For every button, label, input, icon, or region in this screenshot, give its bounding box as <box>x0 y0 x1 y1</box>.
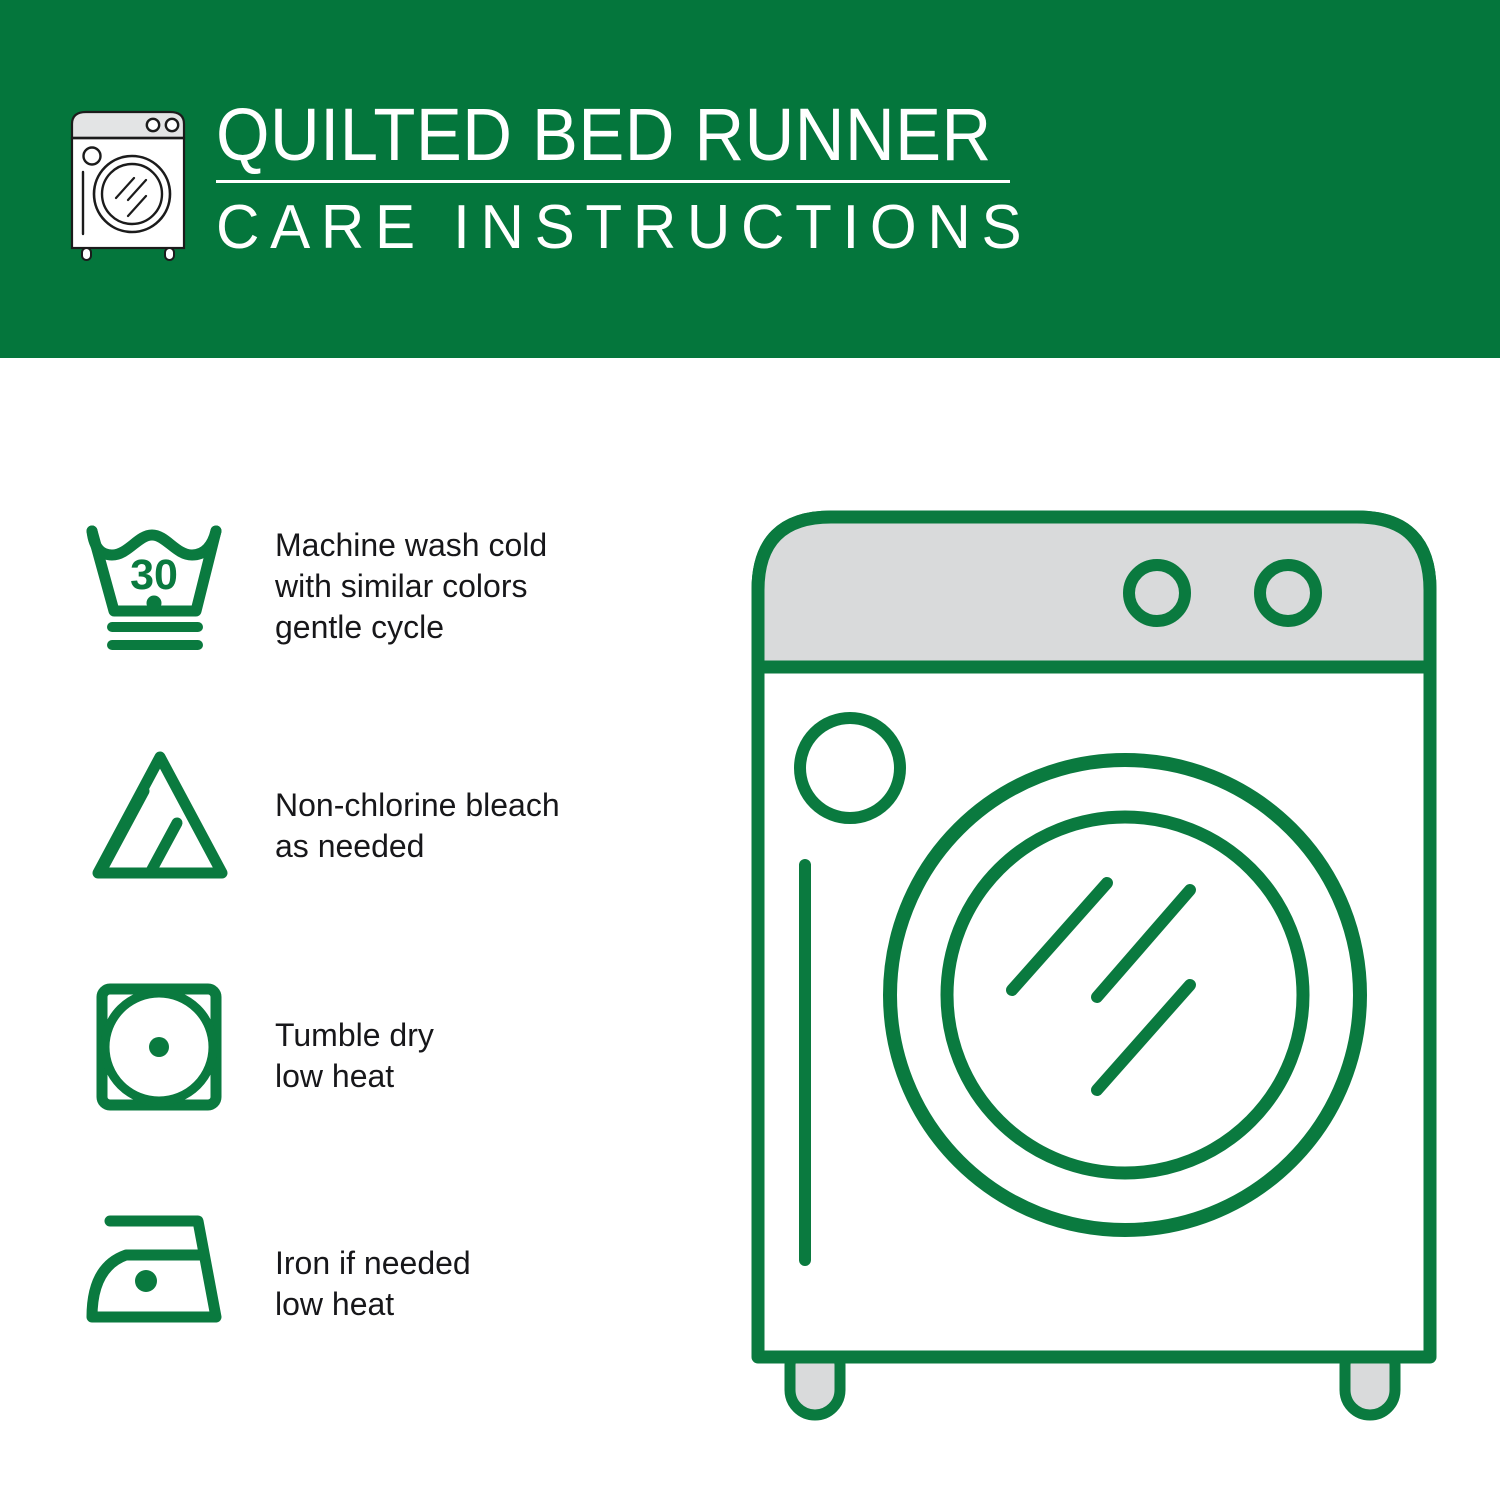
caption-line: gentle cycle <box>275 607 690 648</box>
wash-temperature-label: 30 <box>130 551 178 599</box>
caption-line: Tumble dry <box>275 1015 690 1056</box>
page-subtitle: CARE INSTRUCTIONS <box>216 193 1002 263</box>
washing-machine-icon <box>66 106 190 262</box>
care-symbol-caption: Machine wash cold with similar colors ge… <box>250 505 690 648</box>
caption-line: as needed <box>275 826 690 867</box>
washer-knob-right <box>1260 565 1316 621</box>
care-symbol-row-dry: Tumble dry low heat <box>70 965 690 1195</box>
washer-dispenser-button <box>800 718 900 818</box>
front-load-washing-machine-illustration <box>735 485 1465 1435</box>
caption-line: low heat <box>275 1056 690 1097</box>
care-symbol-caption: Non-chlorine bleach as needed <box>250 735 690 867</box>
header-text-block: QUILTED BED RUNNER CARE INSTRUCTIONS <box>216 96 1026 263</box>
care-symbol-row-bleach: Non-chlorine bleach as needed <box>70 735 690 965</box>
washer-knob-left <box>1129 565 1185 621</box>
header-divider <box>216 180 1010 183</box>
care-symbol-row-iron: Iron if needed low heat <box>70 1195 690 1425</box>
caption-line: low heat <box>275 1284 690 1325</box>
care-symbol-caption: Tumble dry low heat <box>250 965 690 1097</box>
care-symbol-caption: Iron if needed low heat <box>250 1195 690 1325</box>
washer-door-outer <box>890 760 1360 1230</box>
wash-tub-30-icon: 30 <box>70 505 250 655</box>
caption-line: Iron if needed <box>275 1243 690 1284</box>
caption-line: Machine wash cold <box>275 525 690 566</box>
non-chlorine-bleach-triangle-icon <box>70 735 250 885</box>
washer-control-panel <box>758 517 1430 667</box>
tumble-dry-low-icon <box>70 965 250 1115</box>
header-banner: QUILTED BED RUNNER CARE INSTRUCTIONS <box>0 0 1500 358</box>
care-instructions-page: QUILTED BED RUNNER CARE INSTRUCTIONS 30 <box>0 0 1500 1500</box>
page-title: QUILTED BED RUNNER <box>216 96 969 174</box>
care-symbol-list: 30 Machine wash cold with similar colors… <box>70 505 690 1425</box>
care-symbol-row-wash: 30 Machine wash cold with similar colors… <box>70 505 690 735</box>
caption-line: Non-chlorine bleach <box>275 785 690 826</box>
iron-low-heat-icon <box>70 1195 250 1345</box>
caption-line: with similar colors <box>275 566 690 607</box>
